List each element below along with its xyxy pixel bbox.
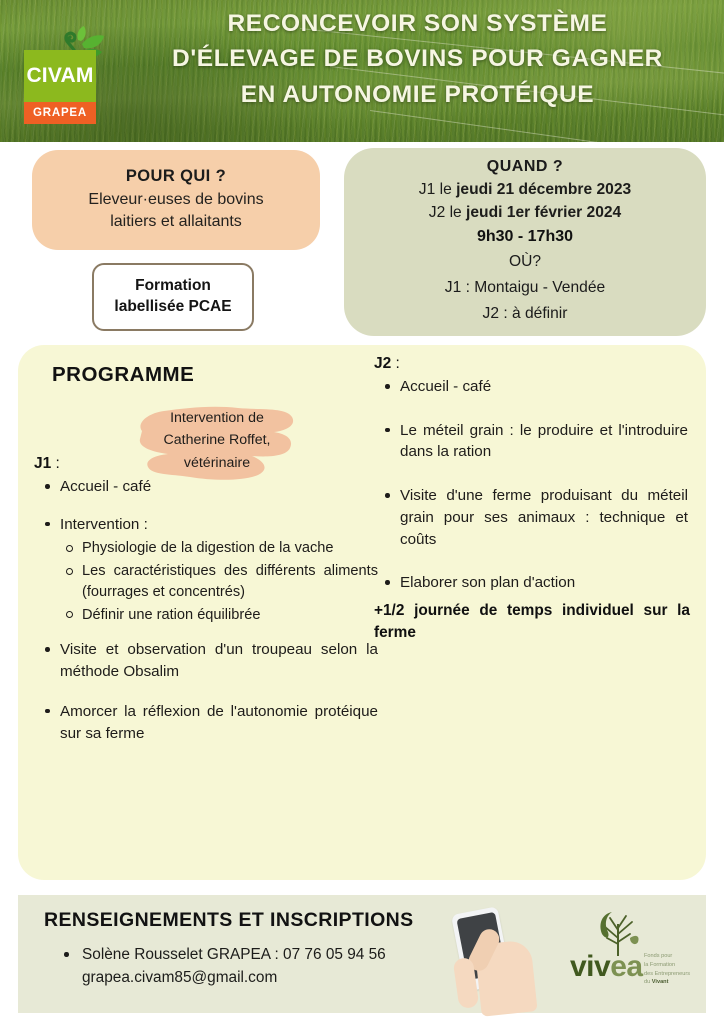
page-title: RECONCEVOIR SON SYSTÈME D'ÉLEVAGE DE BOV…	[120, 6, 715, 112]
contact-name-phone: Solène Rousselet GRAPEA : 07 76 05 94 56	[82, 943, 460, 966]
quand-j2-row: J2 le jeudi 1er février 2024	[360, 201, 690, 224]
j2-day-label-text: J2	[374, 355, 391, 372]
list-item: Visite et observation d'un troupeau selo…	[34, 639, 384, 682]
civam-grapea-logo: CIVAM GRAPEA	[24, 32, 96, 124]
ou-j2-location: J2 : à définir	[360, 302, 690, 327]
j1-item-2-sublist: Physiologie de la digestion de la vache …	[60, 538, 384, 625]
footer-title: RENSEIGNEMENTS ET INSCRIPTIONS	[44, 909, 414, 932]
j1-day-label-colon: :	[51, 455, 60, 472]
j2-half-day-note: +1/2 journée de temps individuel sur la …	[374, 600, 694, 644]
vivea-tagline-line-4: du Vivant	[644, 978, 706, 987]
j2-item-1-text: Accueil - café	[400, 378, 491, 395]
j1-day-label-text: J1	[34, 455, 51, 472]
logo-subname-block: GRAPEA	[24, 102, 96, 124]
vivea-tagline-vivant: Vivant	[652, 979, 669, 985]
quand-title: QUAND ?	[360, 158, 690, 176]
pcae-line-1: Formation	[135, 276, 211, 297]
pcae-line-2: labellisée PCAE	[114, 297, 231, 318]
vivea-tree-icon	[594, 908, 642, 956]
vivea-word-part-2: ea	[610, 950, 642, 983]
list-item: Accueil - café	[374, 376, 694, 398]
vivea-tagline-du: du	[644, 979, 652, 985]
j1-sub-3-text: Définir une ration équilibrée	[82, 607, 260, 623]
programme-panel: PROGRAMME Intervention de Catherine Roff…	[18, 345, 706, 880]
logo-name-block: CIVAM	[24, 50, 96, 102]
programme-j1-column: J1 : Accueil - café Intervention : Physi…	[34, 455, 384, 760]
pour-qui-line-1: Eleveur·euses de bovins	[88, 189, 263, 211]
quand-ou-card: QUAND ? J1 le jeudi 21 décembre 2023 J2 …	[344, 148, 706, 336]
j2-item-list: Accueil - café Le méteil grain : le prod…	[374, 376, 694, 594]
quand-hours: 9h30 - 17h30	[360, 225, 690, 249]
ou-title: OÙ?	[360, 250, 690, 275]
quand-j1-row: J1 le jeudi 21 décembre 2023	[360, 178, 690, 201]
j1-sub-1-text: Physiologie de la digestion de la vache	[82, 540, 334, 556]
j1-item-list: Accueil - café Intervention : Physiologi…	[34, 476, 384, 744]
poster-root: RECONCEVOIR SON SYSTÈME D'ÉLEVAGE DE BOV…	[0, 0, 724, 1024]
j1-item-1-text: Accueil - café	[60, 478, 151, 495]
pour-qui-line-2: laitiers et allaitants	[110, 211, 242, 233]
ou-j1-location: J1 : Montaigu - Vendée	[360, 276, 690, 301]
j1-item-3-text: Visite et observation d'un troupeau selo…	[60, 641, 378, 680]
list-item: Accueil - café	[34, 476, 384, 498]
vivea-tagline: Fonds pour la Formation des Entrepreneur…	[644, 952, 706, 987]
list-item: Amorcer la réflexion de l'autonomie prot…	[34, 701, 384, 744]
j2-day-label-colon: :	[391, 355, 400, 372]
list-item: Elaborer son plan d'action	[374, 572, 694, 594]
logo-name-text: CIVAM	[26, 64, 93, 88]
list-item: Les caractéristiques des différents alim…	[60, 561, 384, 602]
vivea-tagline-line-3: des Entrepreneurs	[644, 970, 706, 979]
list-item: Visite d'une ferme produisant du méteil …	[374, 485, 694, 550]
quand-j2-prefix: J2 le	[429, 204, 466, 221]
page-title-line-2: D'ÉLEVAGE DE BOVINS POUR GAGNER	[120, 41, 715, 76]
pour-qui-card: POUR QUI ? Eleveur·euses de bovins laiti…	[32, 150, 320, 250]
list-item: Le méteil grain : le produire et l'intro…	[374, 420, 694, 463]
j2-day-label: J2 :	[374, 355, 694, 373]
list-item: Intervention : Physiologie de la digesti…	[34, 514, 384, 626]
page-title-line-1: RECONCEVOIR SON SYSTÈME	[120, 6, 715, 41]
vivea-tagline-line-2: la Formation	[644, 961, 706, 970]
programme-title: PROGRAMME	[52, 363, 194, 387]
quand-j2-date: jeudi 1er février 2024	[466, 204, 621, 221]
j2-item-4-text: Elaborer son plan d'action	[400, 574, 575, 591]
hand-holding-phone-icon	[448, 902, 552, 1014]
list-item: Définir une ration équilibrée	[60, 605, 384, 626]
speaker-line-2: Catherine Roffet,	[134, 429, 300, 451]
vivea-tagline-line-1: Fonds pour	[644, 952, 706, 961]
quand-j1-prefix: J1 le	[419, 181, 456, 198]
j1-item-2-text: Intervention :	[60, 516, 148, 533]
quand-j1-date: jeudi 21 décembre 2023	[456, 181, 631, 198]
programme-j2-column: J2 : Accueil - café Le méteil grain : le…	[374, 355, 694, 644]
contact-email[interactable]: grapea.civam85@gmail.com	[82, 966, 460, 989]
speaker-line-3: vétérinaire	[134, 452, 300, 474]
logo-subname-text: GRAPEA	[33, 107, 87, 119]
vivea-wordmark: vivea	[570, 952, 643, 982]
speaker-highlight-text: Intervention de Catherine Roffet, vétéri…	[134, 407, 300, 474]
list-item: Physiologie de la digestion de la vache	[60, 538, 384, 559]
j1-sub-2-text: Les caractéristiques des différents alim…	[82, 563, 378, 600]
contact-block: Solène Rousselet GRAPEA : 07 76 05 94 56…	[60, 943, 460, 990]
j2-item-3-text: Visite d'une ferme produisant du méteil …	[400, 487, 688, 547]
j1-item-4-text: Amorcer la réflexion de l'autonomie prot…	[60, 703, 378, 742]
page-title-line-3: EN AUTONOMIE PROTÉIQUE	[120, 77, 715, 112]
vivea-logo: vivea Fonds pour la Formation des Entrep…	[570, 908, 702, 996]
header-banner: RECONCEVOIR SON SYSTÈME D'ÉLEVAGE DE BOV…	[0, 0, 724, 142]
speaker-line-1: Intervention de	[134, 407, 300, 429]
pour-qui-title: POUR QUI ?	[126, 167, 226, 186]
vivea-word-part-1: viv	[570, 950, 610, 983]
j2-item-2-text: Le méteil grain : le produire et l'intro…	[400, 422, 688, 461]
pcae-label-badge: Formation labellisée PCAE	[92, 263, 254, 331]
